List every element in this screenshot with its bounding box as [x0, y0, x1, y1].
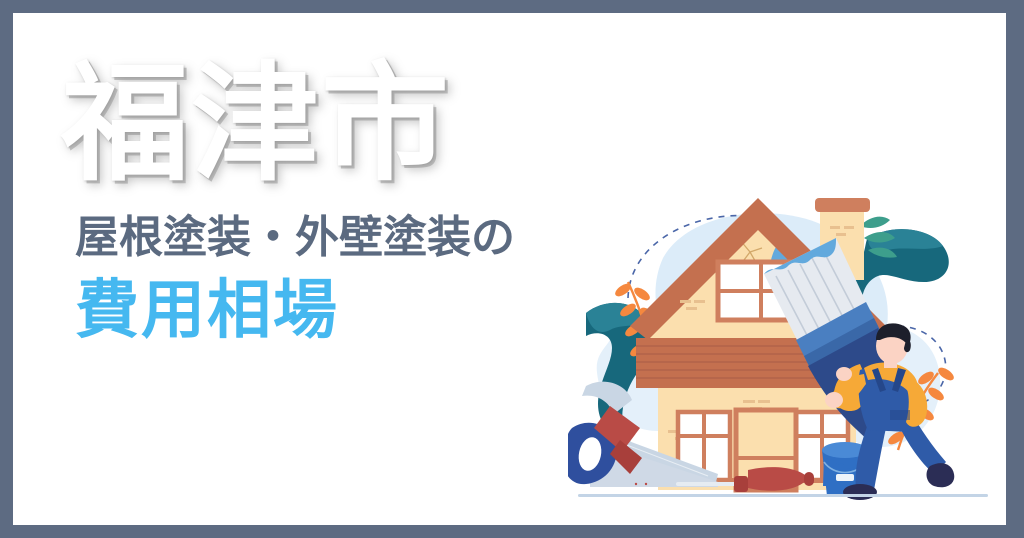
headline-block: 福津市 屋根塗装・外壁塗装の 費用相場: [61, 53, 601, 350]
city-name-title: 福津市: [61, 53, 601, 196]
price-headline: 費用相場: [75, 273, 601, 350]
ground-line: [578, 494, 988, 497]
service-subtitle: 屋根塗装・外壁塗装の: [75, 210, 601, 265]
banner-content: 福津市 屋根塗装・外壁塗装の 費用相場: [13, 13, 1006, 525]
house-painting-illustration: [568, 178, 998, 508]
banner-frame: 福津市 屋根塗装・外壁塗装の 費用相場: [0, 0, 1024, 538]
